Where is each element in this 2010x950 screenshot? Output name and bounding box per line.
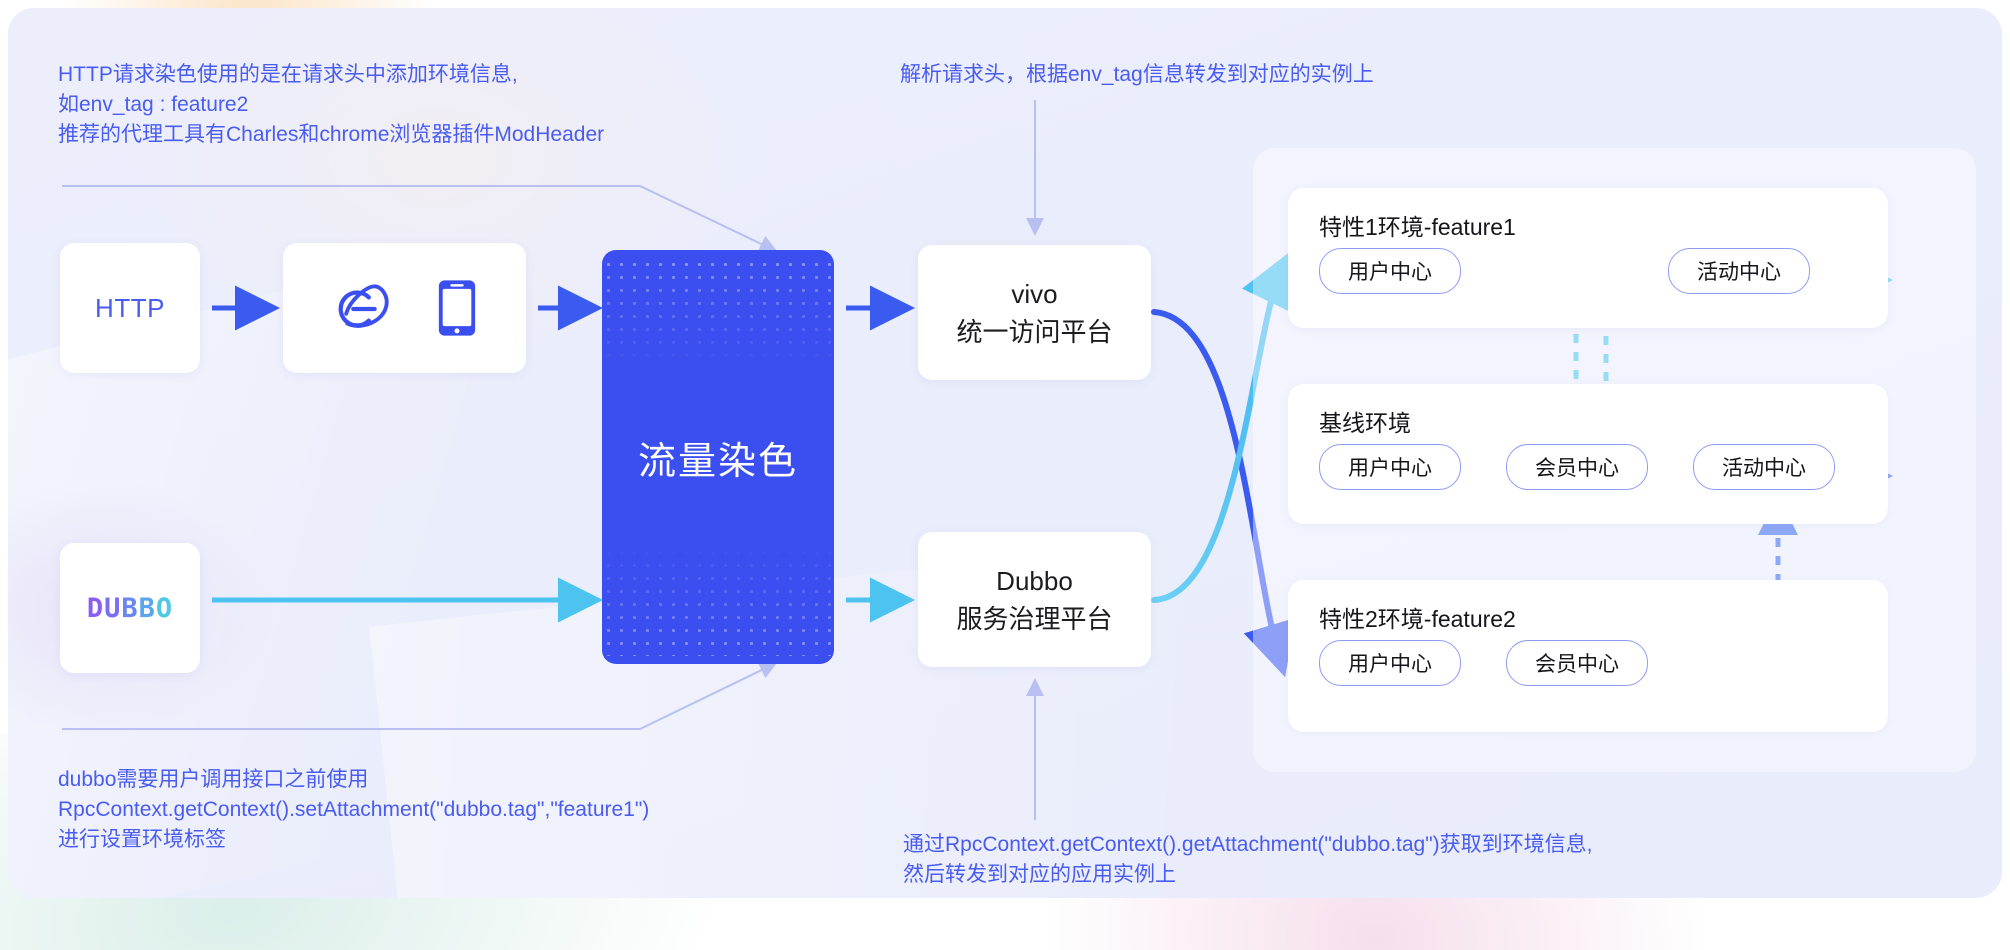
annotation-top-right: 解析请求头，根据env_tag信息转发到对应的实例上	[900, 60, 1374, 90]
node-http[interactable]: HTTP	[60, 243, 200, 373]
service-pill-user-center-f1[interactable]: 用户中心	[1319, 248, 1461, 294]
annotation-top-left: HTTP请求染色使用的是在请求头中添加环境信息, 如env_tag : feat…	[58, 60, 604, 150]
environments-panel: 特性1环境-feature1 用户中心 活动中心 基线环境 用户中心 会员中心 …	[1253, 148, 1976, 772]
node-dubbo-line1: Dubbo	[956, 562, 1112, 600]
env-row-feature2[interactable]: 特性2环境-feature2 用户中心 会员中心	[1288, 580, 1888, 732]
dot-pattern-top	[602, 258, 834, 368]
node-dubbo-line2: 服务治理平台	[956, 600, 1112, 638]
annotation-bottom-left: dubbo需要用户调用接口之前使用 RpcContext.getContext(…	[58, 765, 649, 855]
node-client-devices[interactable]	[283, 243, 526, 373]
env-title-feature1: 特性1环境-feature1	[1319, 208, 1516, 242]
node-traffic-dyeing[interactable]: 流量染色	[602, 250, 834, 664]
env-title-feature2: 特性2环境-feature2	[1319, 600, 1516, 634]
service-pill-member-center-f2[interactable]: 会员中心	[1506, 640, 1648, 686]
node-vivo-line1: vivo	[956, 275, 1112, 313]
node-vivo-line2: 统一访问平台	[956, 313, 1112, 351]
service-pill-activity-center-f1[interactable]: 活动中心	[1668, 248, 1810, 294]
env-title-baseline: 基线环境	[1319, 404, 1411, 438]
env-row-feature1[interactable]: 特性1环境-feature1 用户中心 活动中心	[1288, 188, 1888, 328]
diagram-canvas: HTTP请求染色使用的是在请求头中添加环境信息, 如env_tag : feat…	[0, 0, 2010, 950]
service-pill-activity-center-base[interactable]: 活动中心	[1693, 444, 1835, 490]
node-traffic-dyeing-label: 流量染色	[638, 430, 798, 485]
node-http-label: HTTP	[95, 293, 165, 324]
node-dubbo-platform[interactable]: Dubbo 服务治理平台	[918, 532, 1151, 667]
annotation-bottom-right: 通过RpcContext.getContext().getAttachment(…	[903, 830, 1593, 890]
node-vivo-platform[interactable]: vivo 统一访问平台	[918, 245, 1151, 380]
node-dubbo-logo[interactable]: DUBBO	[60, 543, 200, 673]
mobile-icon	[436, 277, 478, 339]
dubbo-logo-icon: DUBBO	[87, 593, 173, 624]
dot-pattern-bottom	[602, 546, 834, 656]
service-pill-member-center-base[interactable]: 会员中心	[1506, 444, 1648, 490]
browser-icon	[332, 277, 394, 339]
service-pill-user-center-base[interactable]: 用户中心	[1319, 444, 1461, 490]
service-pill-user-center-f2[interactable]: 用户中心	[1319, 640, 1461, 686]
env-row-baseline[interactable]: 基线环境 用户中心 会员中心 活动中心	[1288, 384, 1888, 524]
